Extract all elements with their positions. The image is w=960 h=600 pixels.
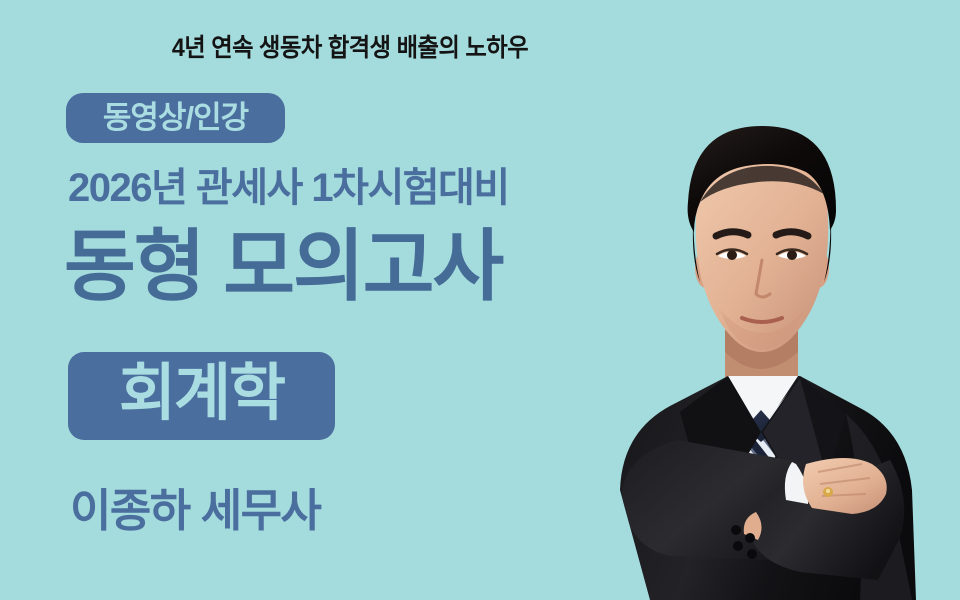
category-badge: 동영상/인강 xyxy=(66,93,285,143)
category-badge-label: 동영상/인강 xyxy=(103,102,248,133)
subject-badge-label: 회계학 xyxy=(119,363,284,425)
course-promo-banner: 4년 연속 생동차 합격생 배출의 노하우 동영상/인강 2026년 관세사 1… xyxy=(0,0,960,600)
course-subtitle: 2026년 관세사 1차시험대비 xyxy=(68,166,509,210)
instructor-name: 이종하 세무사 xyxy=(70,474,320,539)
subject-badge: 회계학 xyxy=(68,352,335,440)
course-title: 동형 모의고사 xyxy=(64,224,502,308)
promo-tagline: 4년 연속 생동차 합격생 배출의 노하우 xyxy=(25,28,676,64)
instructor-photo xyxy=(560,60,960,600)
